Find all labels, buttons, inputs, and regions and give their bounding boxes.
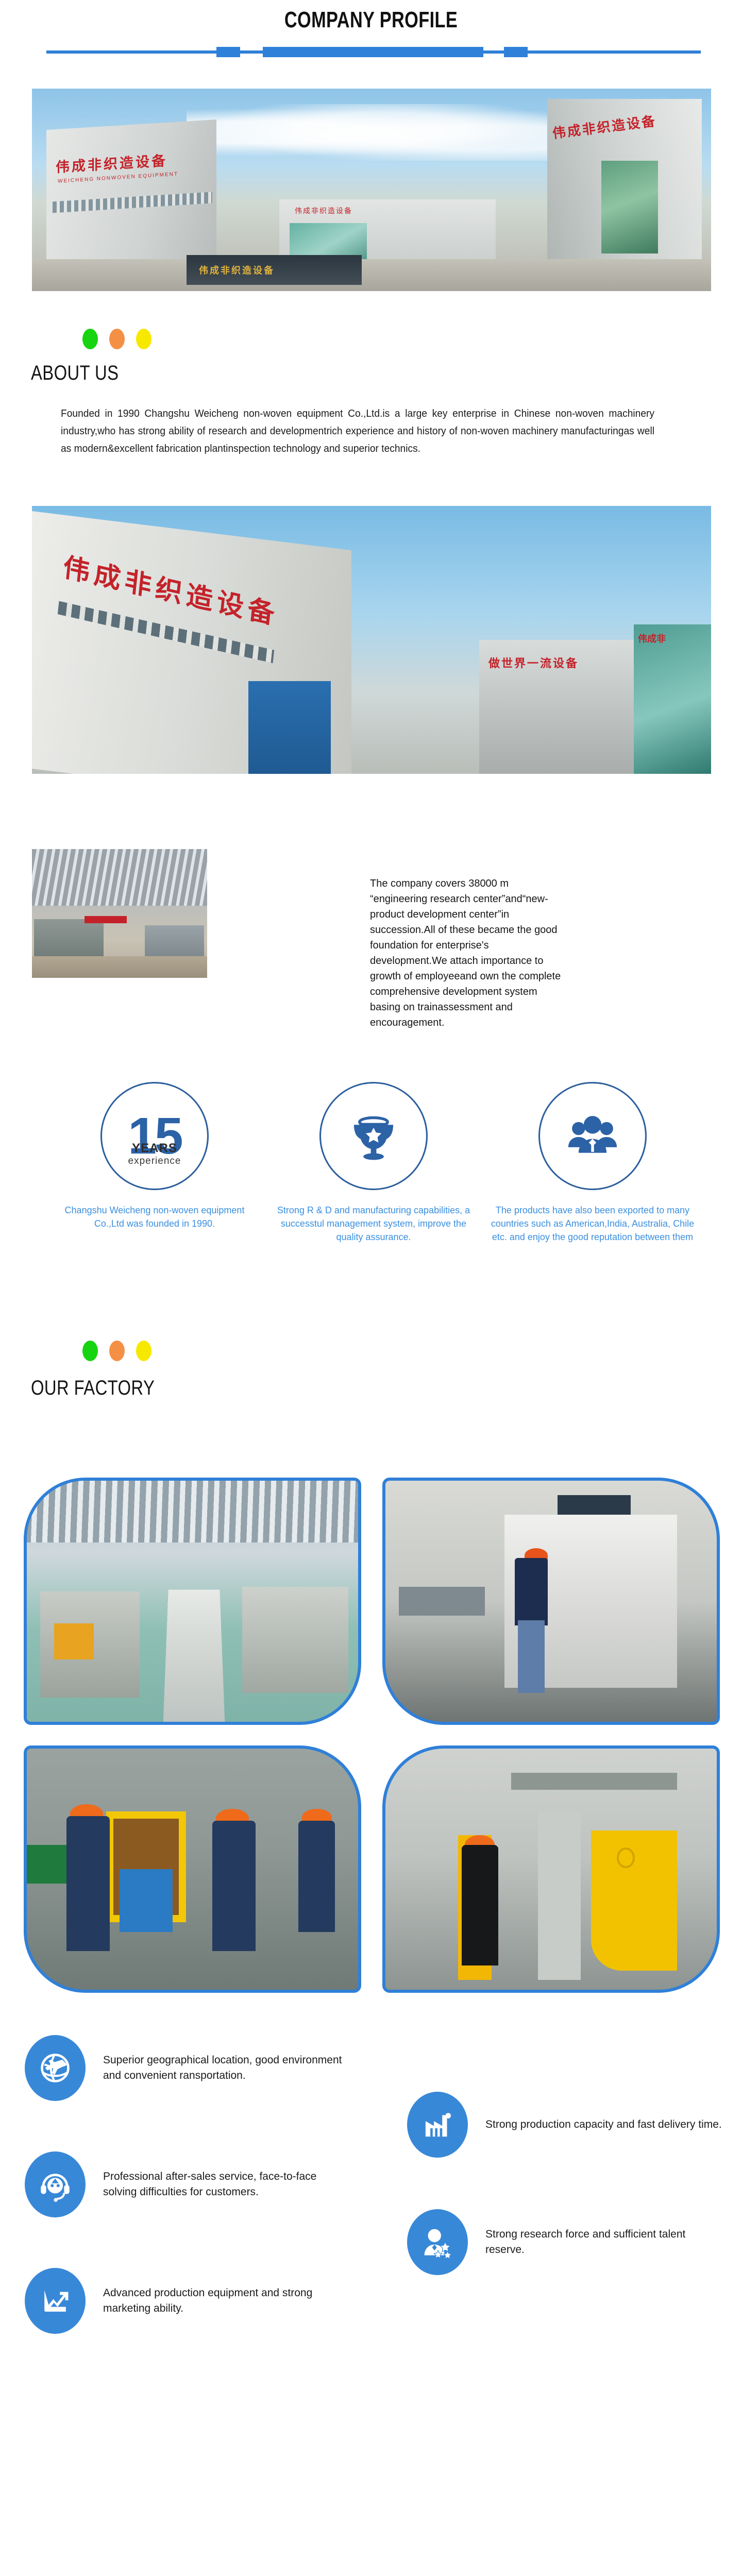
machine-column: [538, 1811, 581, 1980]
team-icon: [538, 1082, 647, 1190]
safety-banner: [85, 916, 127, 923]
dot-yellow-icon: [136, 1341, 151, 1361]
worker-one: [66, 1816, 110, 1951]
factory-exterior-photo: 伟成非织造设备 WEICHENG NONWOVEN EQUIPMENT 伟成非织…: [32, 89, 711, 291]
factory-icon: [407, 2092, 468, 2158]
page-title: COMPANY PROFILE: [81, 7, 660, 33]
right-glass-facade: [601, 161, 658, 253]
workshop-interior-photo: [32, 849, 207, 978]
advantage-item-research: Strong research force and sufficient tal…: [407, 2209, 727, 2275]
machine-right: [242, 1587, 348, 1693]
advantage-text: Superior geographical location, good env…: [103, 2053, 344, 2083]
worker-legs: [518, 1620, 544, 1692]
advantage-item-equipment: Advanced production equipment and strong…: [25, 2268, 344, 2334]
highlight-item-years: 15 YEARS experience Changshu Weicheng no…: [52, 1082, 258, 1230]
about-us-paragraph: Founded in 1990 Changshu Weicheng non-wo…: [61, 405, 654, 457]
workers-assembly-photo: [24, 1745, 361, 1993]
advantage-item-capacity: Strong production capacity and fast deli…: [407, 2092, 727, 2158]
worker-figure: [462, 1845, 498, 1965]
gate-sign: 伟成非织造设备: [199, 263, 275, 277]
years-badge-icon: 15 YEARS experience: [100, 1082, 209, 1190]
glass-building-sign: 伟成非: [638, 632, 666, 645]
dot-yellow-icon: [136, 329, 151, 349]
about-us-heading: ABOUT US: [31, 362, 119, 385]
headset-support-icon: [25, 2151, 86, 2217]
worker-two: [212, 1821, 256, 1951]
divider-block-center: [263, 47, 483, 57]
company-profile-page: COMPANY PROFILE 伟成非织造设备 WEICHENG NONWOVE…: [0, 0, 742, 2576]
center-building-sign: 伟成非织造设备: [295, 206, 352, 216]
person-stars-icon: [407, 2209, 468, 2275]
our-factory-heading: OUR FACTORY: [31, 1377, 155, 1400]
ground-plane: [32, 259, 711, 291]
right-building: 伟成非织造设备: [547, 99, 702, 279]
glass-office-building: 伟成非: [634, 624, 711, 774]
entrance-gate: 伟成非织造设备: [187, 255, 362, 285]
production-line-photo: [24, 1478, 361, 1725]
work-bench: [399, 1587, 485, 1616]
dot-orange-icon: [109, 1341, 125, 1361]
divider-block-right: [504, 47, 528, 57]
header-divider: [46, 45, 701, 59]
overhead-crane: [511, 1773, 677, 1790]
workshop-floor: [32, 956, 207, 978]
yellow-panel-right: [591, 1831, 677, 1970]
advantage-text: Strong production capacity and fast deli…: [485, 2117, 722, 2132]
dot-green-icon: [82, 1341, 98, 1361]
shed-banner-sign: 做世界一流设备: [488, 654, 579, 671]
roof-structure: [27, 1481, 358, 1543]
badge-experience-label: experience: [102, 1156, 207, 1167]
highlight-caption: Changshu Weicheng non-woven equipment Co…: [52, 1204, 258, 1230]
factory-dots: [82, 1341, 151, 1361]
about-company-coverage-paragraph: The company covers 38000 m “engineering …: [370, 876, 566, 1030]
about-dots: [82, 329, 151, 349]
dot-green-icon: [82, 329, 98, 349]
advantage-text: Professional after-sales service, face-t…: [103, 2169, 344, 2200]
building-sign-cn: 伟成非织造设备: [56, 147, 205, 177]
worker-three: [298, 1821, 335, 1931]
open-shed: 做世界一流设备: [479, 640, 649, 774]
advantage-text: Strong research force and sufficient tal…: [485, 2227, 727, 2258]
factory-angled-photo: 伟成非织造设备 做世界一流设备 伟成非: [32, 506, 711, 774]
sky-clouds: [187, 104, 547, 161]
advantage-text: Advanced production equipment and strong…: [103, 2285, 344, 2316]
highlight-item-export: The products have also been exported to …: [490, 1082, 696, 1244]
worker-torso: [515, 1558, 548, 1625]
workshop-roof: [32, 849, 207, 906]
advantage-item-location: Superior geographical location, good env…: [25, 2035, 344, 2101]
globe-plane-icon: [25, 2035, 86, 2101]
dot-orange-icon: [109, 329, 125, 349]
right-building-sign: 伟成非织造设备: [551, 106, 698, 151]
blue-cabinet: [120, 1869, 173, 1932]
machine-left: [34, 919, 104, 961]
badge-years-label: YEARS: [102, 1141, 207, 1156]
worker-hoist-photo: [382, 1745, 720, 1993]
machine-left: [40, 1591, 140, 1698]
trophy-icon: [319, 1082, 428, 1190]
highlight-caption: Strong R & D and manufacturing capabilit…: [271, 1204, 477, 1244]
center-aisle: [163, 1589, 225, 1725]
advantage-item-service: Professional after-sales service, face-t…: [25, 2151, 344, 2217]
highlight-item-quality: Strong R & D and manufacturing capabilit…: [271, 1082, 477, 1244]
growth-chart-icon: [25, 2268, 86, 2334]
divider-block-left: [216, 47, 240, 57]
cnc-machining-photo: [382, 1478, 720, 1725]
workshop-door: [248, 681, 331, 774]
window-row: [53, 192, 212, 213]
highlight-caption: The products have also been exported to …: [490, 1204, 696, 1244]
